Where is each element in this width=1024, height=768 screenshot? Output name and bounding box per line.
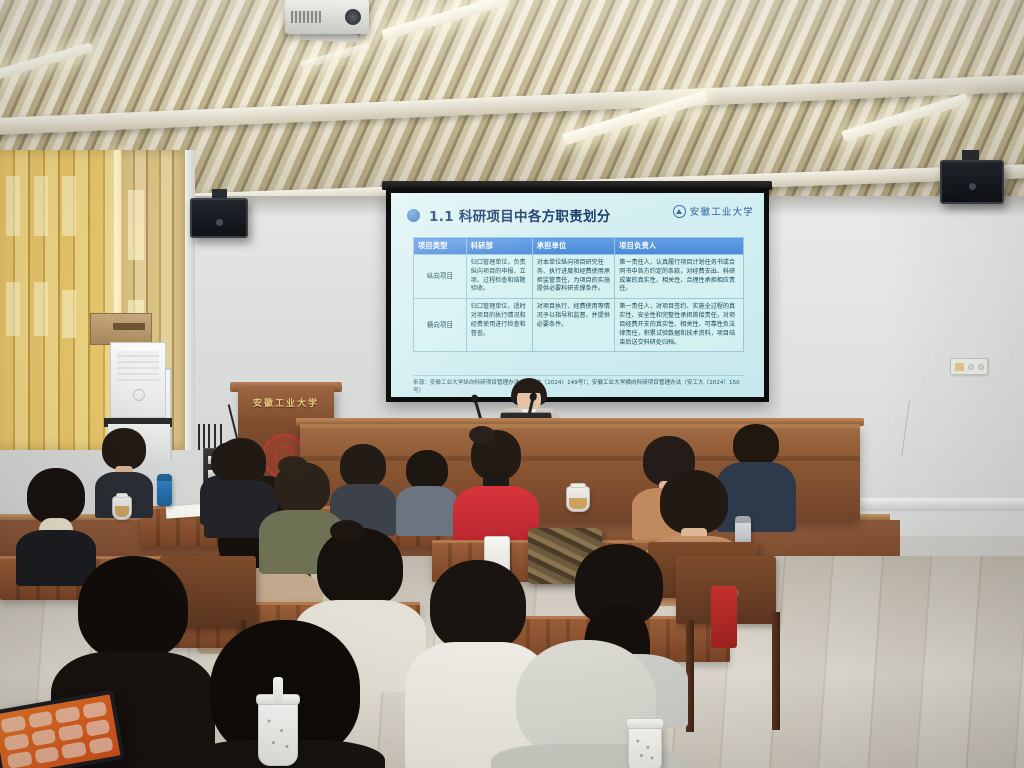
app-icon[interactable] [28,711,54,729]
cell-research-dept: 归口管理单位，适时对项目的执行情况和经费使用进行检查和督查。 [466,299,532,352]
red-scarf [711,586,737,648]
responsibility-table: 项目类型 科研部 承担单位 项目负责人 纵向项目 归口管理单位，负责纵向项目的申… [413,237,744,352]
audience-member-red-jacket [455,430,537,550]
audience-member [398,450,456,530]
person-head [27,468,85,524]
chair-leg [772,612,780,730]
sunlight-patch [62,176,76,236]
table-row: 纵向项目 归口管理单位，负责纵向项目的申报、立项、过程检查和结题验收。 对本单位… [414,255,744,299]
power-outlet[interactable] [950,358,988,375]
cup-pattern [263,709,293,757]
university-name: 安徽工业大学 [690,204,754,218]
teapot-lid [116,493,128,498]
tea-liquid [569,498,587,509]
sunlight-patch [6,176,20,236]
app-icon[interactable] [34,746,60,764]
cell-host-unit: 对项目执行、经费使用等情况予以指导和监督，并提供必要条件。 [532,299,615,352]
person-hair-bun [278,456,308,476]
person-hair-bun [469,426,495,444]
outlet-socket-icon [978,364,984,370]
wall-speaker-right [940,160,1004,204]
sunlight-patch [6,282,20,336]
box-slot [113,323,145,330]
cardboard-box [90,313,152,345]
flask-cap [157,474,172,481]
ceiling-projector [285,0,369,34]
presentation-slide: 1.1 科研项目中各方职责划分 安徽工业大学 项目类型 科研部 承担单位 项目负… [391,193,764,397]
row-label-horizontal: 横向项目 [414,299,467,352]
bubble-tea-cup [628,724,662,768]
person-hair-bun [330,520,364,542]
window-frame [185,150,195,450]
university-crest-icon [673,205,686,218]
lecture-hall-scene: 1.1 科研项目中各方职责划分 安徽工业大学 项目类型 科研部 承担单位 项目负… [0,0,1024,768]
projector-vent [291,11,321,23]
university-logo: 安徽工业大学 [673,204,754,218]
person-head [660,470,728,534]
slide-source-note: 来源：安徽工业大学纵向科研项目管理办法（安工大〔2024〕149号）；安徽工业大… [413,375,744,396]
cell-project-leader: 第一责任人，认真履行项目计划任务书或合同书中各方约定的条款，对经费支出、科研成果… [615,255,744,299]
person-head [430,560,526,652]
app-icon[interactable] [0,716,26,734]
person-head [216,438,266,486]
bubble-tea-cup [258,700,298,766]
projection-screen: 1.1 科研项目中各方职责划分 安徽工业大学 项目类型 科研部 承担单位 项目负… [386,188,769,402]
outlet-socket-icon [968,364,974,370]
cell-project-leader: 第一责任人，对项目签约、实施全过程的真实性、安全性和完整性承担首接责任，对项目经… [615,299,744,352]
podium-label: 安徽工业大学 [244,396,328,409]
ac-grill [117,351,159,381]
cup-straw [273,677,283,703]
cup-pattern [633,733,657,765]
blue-dot-icon [407,209,420,222]
ac-knob-icon [133,389,145,401]
projector-lens-icon [345,9,361,25]
app-icon[interactable] [61,741,87,759]
app-icon[interactable] [82,701,108,719]
tablet-app-grid [0,701,113,768]
speaker-cone-icon [969,183,976,190]
person-head [102,428,146,470]
app-icon[interactable] [4,733,30,751]
table-header-row: 项目类型 科研部 承担单位 项目负责人 [414,238,744,255]
cup-lid [626,718,664,729]
presenter-fringe [514,382,544,393]
speaker-cone-icon [216,219,223,226]
cell-research-dept: 归口管理单位，负责纵向项目的申报、立项、过程检查和结题验收。 [466,255,532,299]
person-head [733,424,779,466]
col-header-project-leader: 项目负责人 [615,238,744,255]
person-head [317,528,403,608]
app-icon[interactable] [58,724,84,742]
wall-speaker-left [190,198,248,238]
sunlight-patch [62,290,76,338]
teapot-lid [570,483,586,488]
cell-host-unit: 对本单位纵向项目研究任务、执行进度和经费使用承担监管责任，为项目的实施提供必要科… [532,255,615,299]
table-row: 横向项目 归口管理单位，适时对项目的执行情况和经费使用进行检查和督查。 对项目执… [414,299,744,352]
person-head [78,556,188,660]
app-icon[interactable] [55,706,81,724]
app-icon[interactable] [31,728,57,746]
sunlight-patch [34,282,48,336]
glass-teapot [112,496,132,520]
app-icon[interactable] [7,751,33,768]
air-conditioner [110,342,166,418]
outlet-data-port [955,363,964,371]
sunlight-patch [34,176,48,236]
glass-teapot [566,486,590,512]
vacuum-flask [157,474,172,506]
col-header-research-dept: 科研部 [466,238,532,255]
slide-title: 1.1 科研项目中各方职责划分 [429,205,611,225]
row-label-vertical: 纵向项目 [414,255,467,299]
person-head [340,444,386,488]
app-icon[interactable] [88,737,114,755]
tea-liquid [115,506,129,517]
col-header-project-type: 项目类型 [414,238,467,255]
person-head [406,450,448,490]
col-header-host-unit: 承担单位 [532,238,615,255]
app-icon[interactable] [85,719,111,737]
sunlight-patch [128,190,144,260]
